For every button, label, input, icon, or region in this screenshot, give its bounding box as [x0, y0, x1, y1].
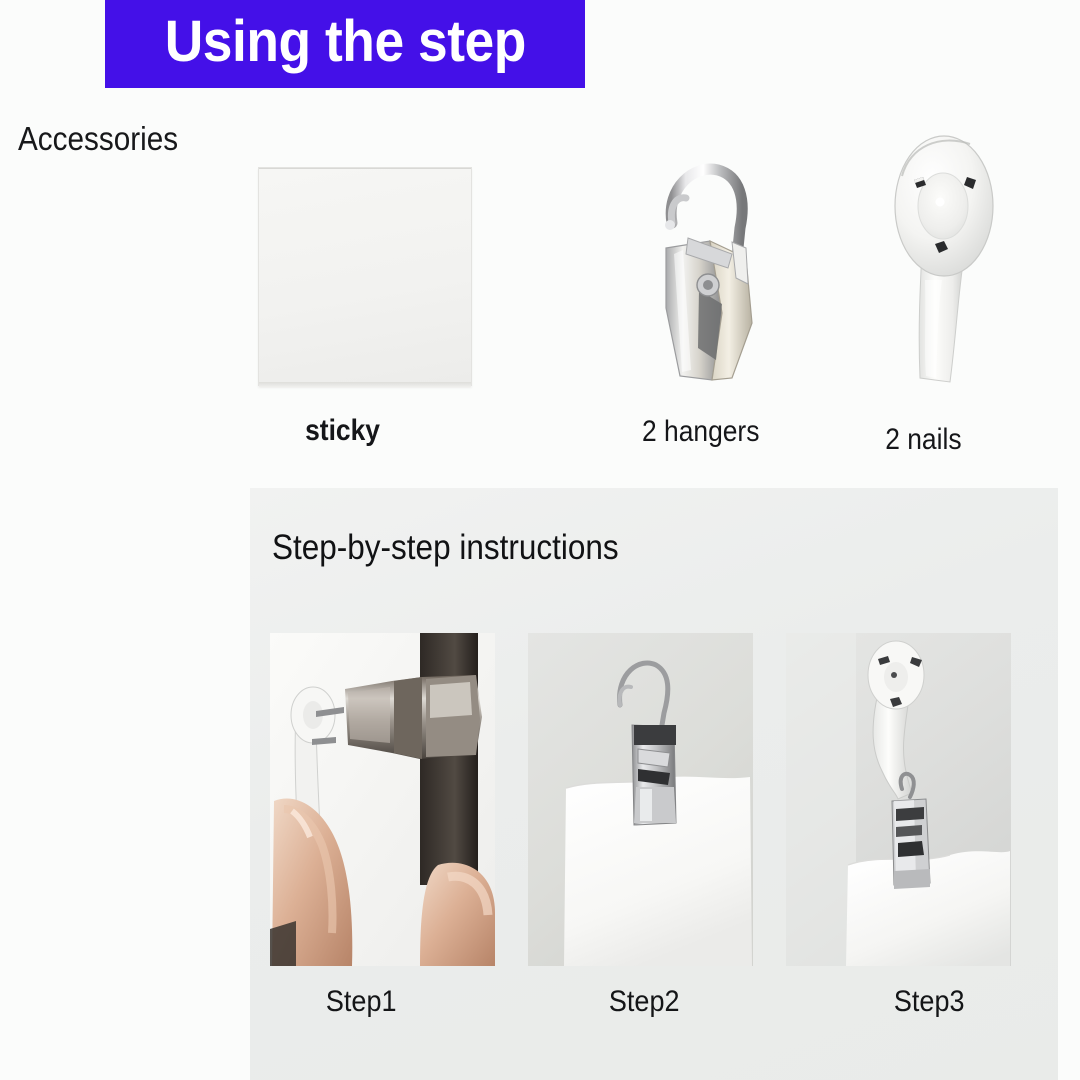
step-caption-2: Step2 [609, 985, 680, 1019]
accessories-section-label: Accessories [18, 120, 178, 158]
metal-clip-hook-icon [636, 108, 796, 384]
adhesive-square-icon [258, 167, 472, 386]
step-photo-row [270, 633, 1060, 966]
accessory-caption-nails: 2 nails [885, 423, 961, 457]
page-title: Using the step [164, 12, 525, 76]
instructions-section-label: Step-by-step instructions [272, 528, 619, 568]
step-photo-3 [786, 633, 1011, 966]
product-instruction-graphic: Using the step Accessories sticky [0, 0, 1080, 1080]
step-photo-1 [270, 633, 495, 966]
step-photo-2 [528, 633, 753, 966]
title-banner: Using the step [105, 0, 585, 88]
step-caption-3: Step3 [894, 985, 965, 1019]
accessory-caption-sticky: sticky [305, 414, 380, 448]
step-caption-1: Step1 [326, 985, 397, 1019]
step-by-step-panel: Step-by-step instructions [250, 488, 1058, 1080]
accessory-caption-hangers: 2 hangers [642, 415, 759, 449]
white-wall-hook-icon [880, 130, 1020, 390]
